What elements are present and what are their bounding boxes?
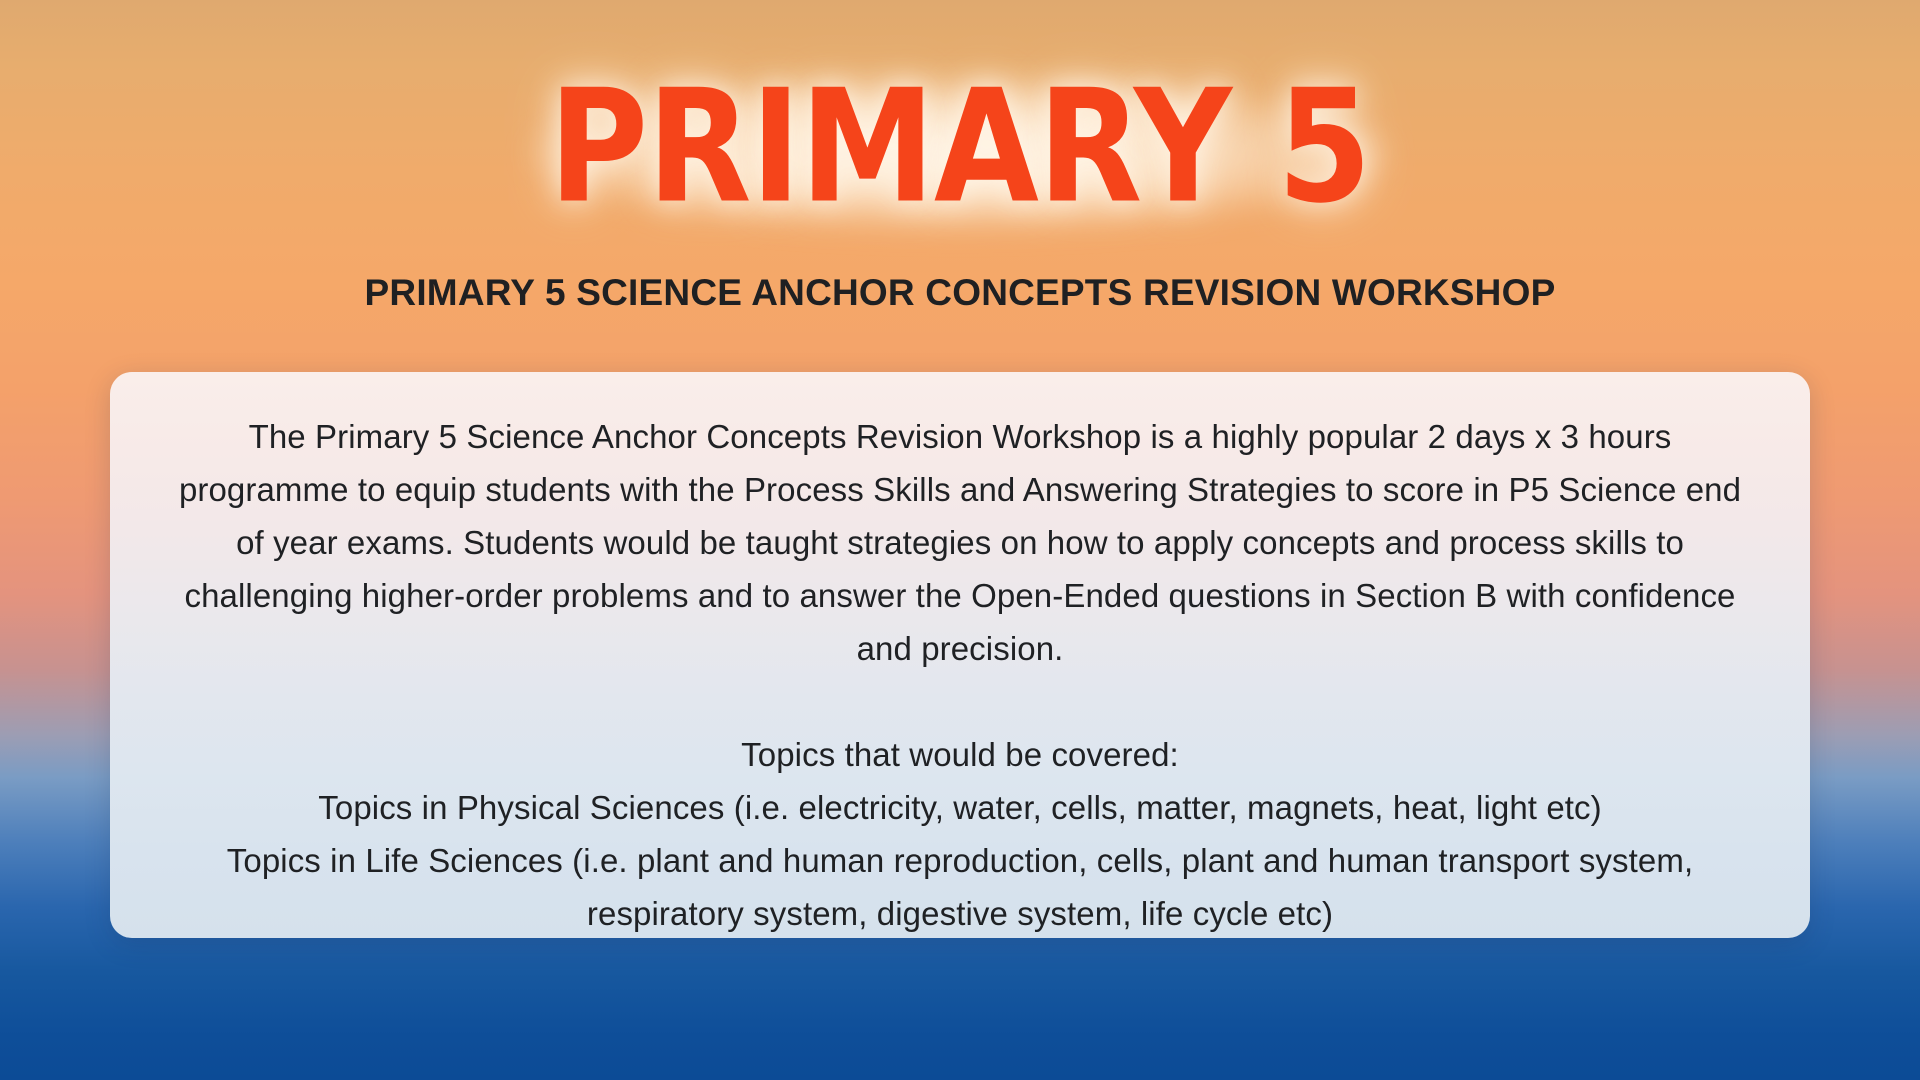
topics-heading: Topics that would be covered: — [168, 728, 1752, 781]
topics-item-life-sciences: Topics in Life Sciences (i.e. plant and … — [168, 834, 1752, 940]
description-card: The Primary 5 Science Anchor Concepts Re… — [110, 372, 1810, 938]
poster-canvas: PRIMARY 5 PRIMARY 5 SCIENCE ANCHOR CONCE… — [0, 0, 1920, 1080]
workshop-description: The Primary 5 Science Anchor Concepts Re… — [168, 410, 1752, 675]
page-title: PRIMARY 5 — [549, 70, 1371, 226]
paragraph-spacer — [168, 675, 1752, 728]
card-body: The Primary 5 Science Anchor Concepts Re… — [168, 410, 1752, 940]
page-subtitle: PRIMARY 5 SCIENCE ANCHOR CONCEPTS REVISI… — [0, 272, 1920, 314]
topics-item-physical-sciences: Topics in Physical Sciences (i.e. electr… — [168, 781, 1752, 834]
title-block: PRIMARY 5 — [0, 70, 1920, 198]
